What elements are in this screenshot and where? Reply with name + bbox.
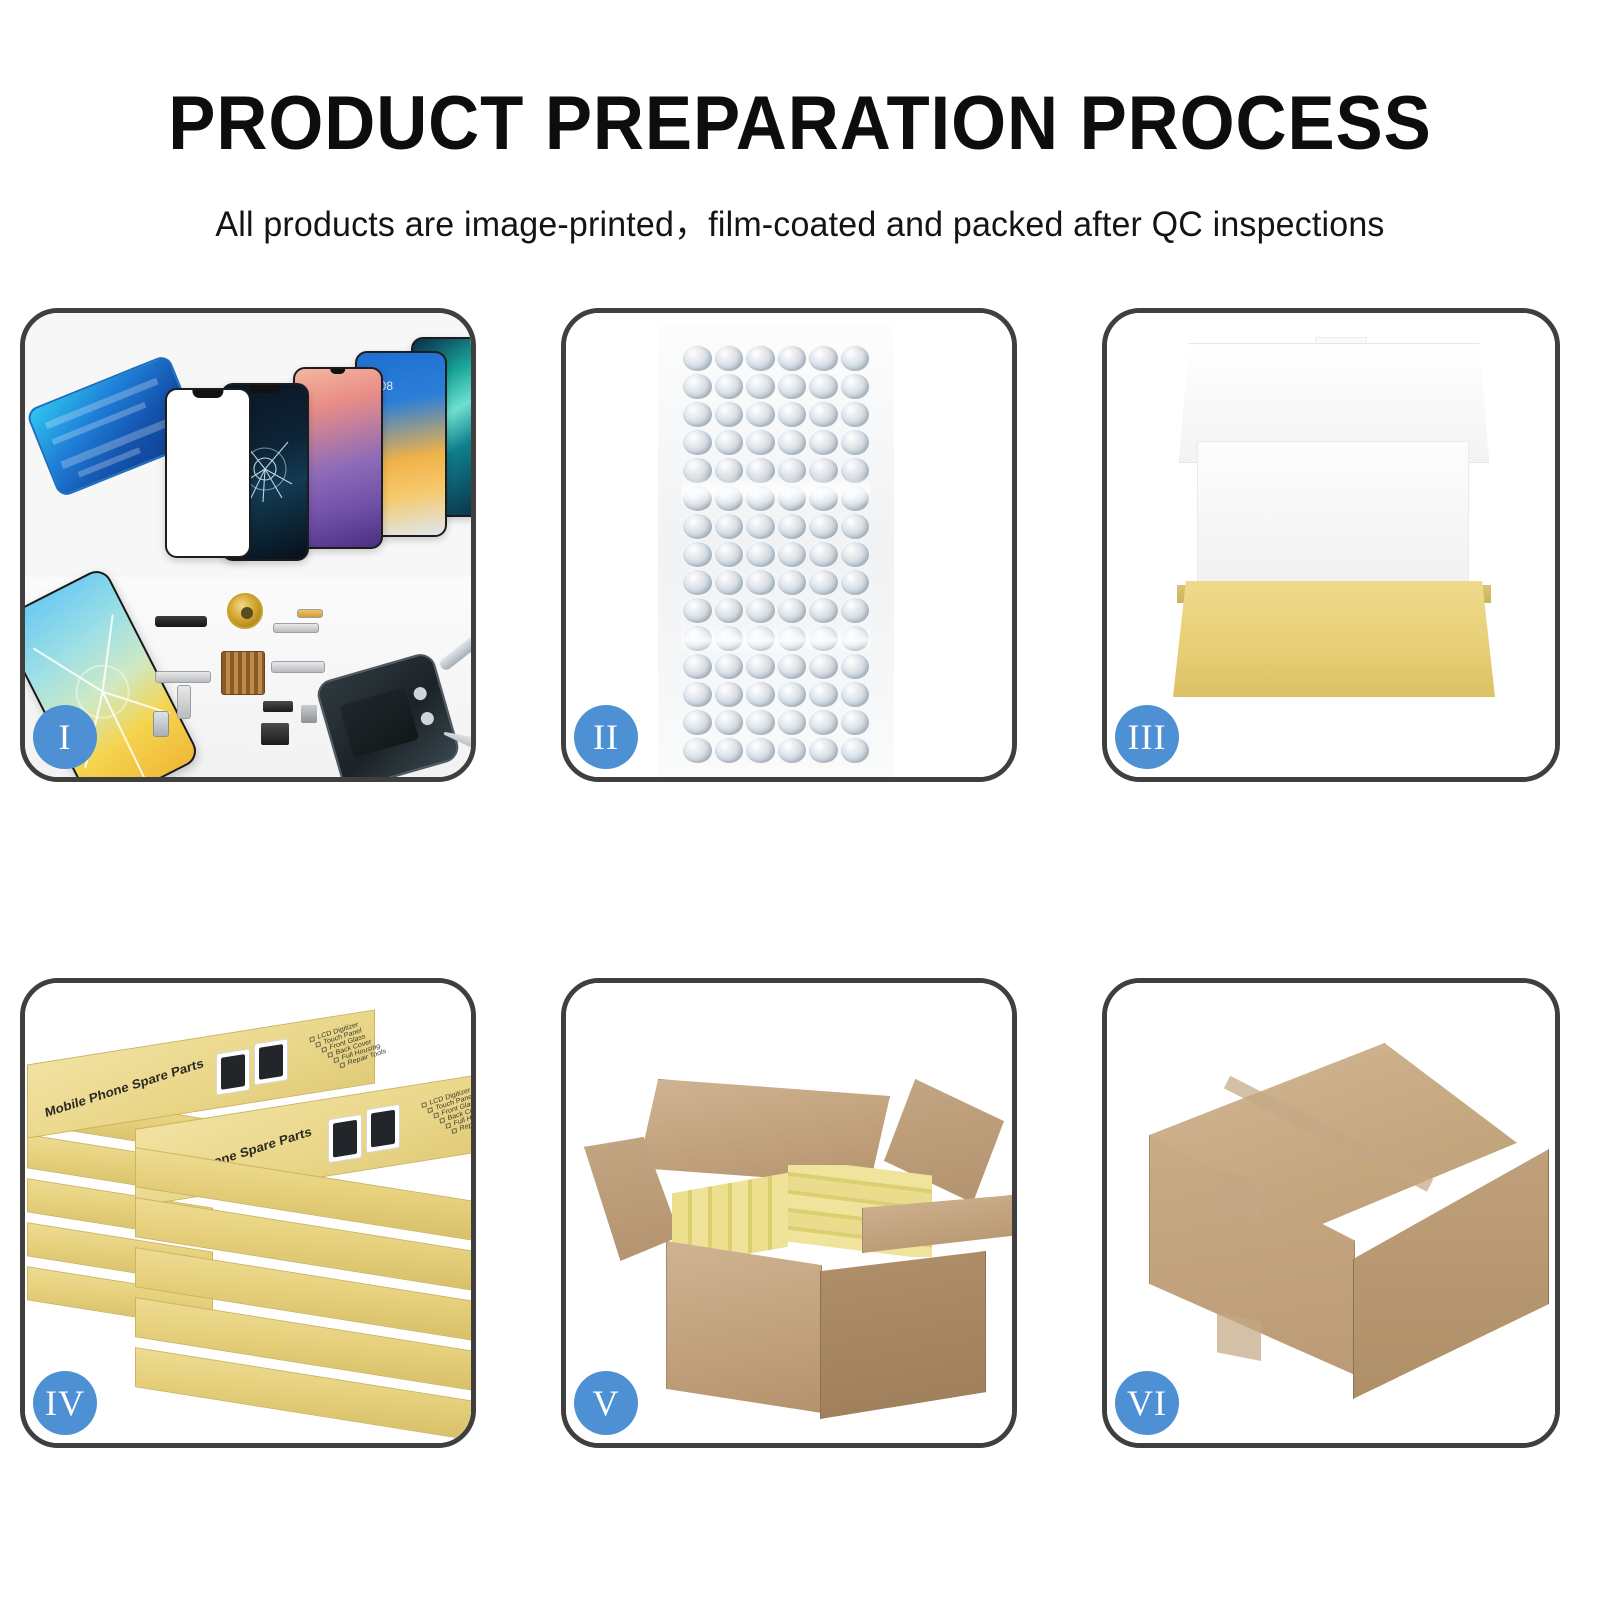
small-component-part [261,723,289,745]
step-numeral: IV [45,1382,85,1424]
panel-2-image [566,313,1012,777]
bubble [682,737,713,764]
flex-cable-part [177,685,191,719]
open-carton-scene [566,983,1012,1443]
bubble [745,681,776,708]
flex-cable-part [273,623,319,633]
bubble [840,569,871,596]
step-badge-3: III [1115,705,1179,769]
bubble [682,569,713,596]
bubble [840,737,871,764]
phone-parts-scene: 08:08 [25,313,471,777]
bubble [777,709,808,736]
bubble [808,681,839,708]
bubble [808,513,839,540]
phone-notch-icon [330,369,345,374]
phone-notch-icon [249,385,281,393]
bubble [777,345,808,372]
bubble [714,429,745,456]
carton-body-right [820,1251,986,1419]
step-numeral: VI [1127,1382,1167,1424]
bubble [714,513,745,540]
bubble [714,345,745,372]
bubble [840,681,871,708]
bubble-wrapped-product [658,325,894,777]
bubble [840,373,871,400]
bubble [745,401,776,428]
step-badge-6: VI [1115,1371,1179,1435]
bubble [682,429,713,456]
bubble [808,373,839,400]
bubble [745,373,776,400]
bubble [745,429,776,456]
panel-step-4: Mobile Phone Spare Parts LCD DigitizerTo… [20,978,476,1448]
bubble [777,737,808,764]
bubble [682,653,713,680]
panel-step-3: III [1102,308,1560,782]
box-inner-panel [1197,441,1469,593]
camera-lens-icon [412,686,428,702]
panel-step-2: II [561,308,1017,782]
bubble [745,541,776,568]
panel-3-image [1107,313,1555,777]
bubble [840,541,871,568]
bubble [840,345,871,372]
bubble [682,513,713,540]
ic-chip-part [221,651,265,695]
bubble [840,653,871,680]
box-checklist: LCD DigitizerTouch PanelFront GlassBack … [421,1080,471,1143]
box-product-image [366,1104,400,1153]
stacked-boxes-scene: Mobile Phone Spare Parts LCD DigitizerTo… [25,983,471,1443]
box-product-image [216,1048,250,1095]
bubble [777,429,808,456]
bubble [777,569,808,596]
flex-cable-part [271,661,325,673]
bubble-grid [682,345,870,763]
process-grid: 08:08 [0,0,1600,1600]
gold-flex-part [297,609,323,618]
bubble [714,681,745,708]
bubble [714,737,745,764]
bubble [777,681,808,708]
bubble [745,709,776,736]
bubble [745,513,776,540]
box-tray [1173,581,1495,697]
infographic-page: PRODUCT PREPARATION PROCESS All products… [0,0,1600,1600]
bubble [714,541,745,568]
panel-5-image [566,983,1012,1443]
plastic-sheen [682,625,870,655]
plastic-sheen [682,475,870,505]
bubble [808,737,839,764]
carton-body-left [666,1241,822,1413]
step-numeral: I [59,716,72,758]
bubble [745,345,776,372]
bubble [808,541,839,568]
panel-step-6: VI [1102,978,1560,1448]
bubble [840,513,871,540]
bubble [682,681,713,708]
bubble [840,429,871,456]
box-checklist: LCD DigitizerTouch PanelFront GlassBack … [309,1014,386,1077]
step-badge-1: I [33,705,97,769]
battery-part [339,687,419,758]
panel-4-image: Mobile Phone Spare Parts LCD DigitizerTo… [25,983,471,1443]
step-numeral: II [593,716,619,758]
bubble [682,345,713,372]
bubble [777,541,808,568]
step-numeral: III [1128,716,1167,758]
box-product-image [254,1038,288,1085]
panel-1-image: 08:08 [25,313,471,777]
bubble [808,709,839,736]
phone-notch-icon [192,390,223,398]
step-badge-4: IV [33,1371,97,1435]
flex-cable-part [155,671,211,683]
phone-front-glass [165,388,251,558]
panel-step-5: V [561,978,1017,1448]
bubble [714,597,745,624]
bubble [808,597,839,624]
sim-tray-part [153,711,169,737]
bubble [682,709,713,736]
bubble [808,569,839,596]
small-component-part [301,705,317,723]
bubble [745,653,776,680]
bubble [714,373,745,400]
bubble [714,401,745,428]
bubble [808,401,839,428]
sealed-carton-scene [1107,983,1555,1443]
small-component-part [263,701,293,712]
camera-lens-icon [419,711,435,727]
bubble [714,709,745,736]
bubble [808,429,839,456]
checkbox-icon [339,1062,345,1068]
box-product-image [328,1114,362,1163]
bubble [714,569,745,596]
bubble [777,653,808,680]
bubble [840,709,871,736]
bubble [840,597,871,624]
bubble [840,401,871,428]
bubble [777,401,808,428]
bubble-wrap-scene [566,313,1012,777]
bubble [682,401,713,428]
panel-6-image [1107,983,1555,1443]
bubble [808,345,839,372]
bubble [808,653,839,680]
bubble [745,569,776,596]
bubble [682,597,713,624]
box-brand-label: Mobile Phone Spare Parts [44,1055,205,1120]
wireless-charging-coil-part [227,593,263,629]
yellow-box-row [672,1173,788,1257]
checkbox-icon [451,1128,457,1134]
panel-step-1: 08:08 [20,308,476,782]
step-badge-5: V [574,1371,638,1435]
bubble [777,513,808,540]
speaker-part [155,616,207,627]
bubble [745,737,776,764]
bubble [745,597,776,624]
step-numeral: V [593,1382,620,1424]
bubble [682,373,713,400]
bubble [714,653,745,680]
step-badge-2: II [574,705,638,769]
inner-box-scene [1107,313,1555,777]
bubble [777,597,808,624]
bubble [682,541,713,568]
bubble [777,373,808,400]
